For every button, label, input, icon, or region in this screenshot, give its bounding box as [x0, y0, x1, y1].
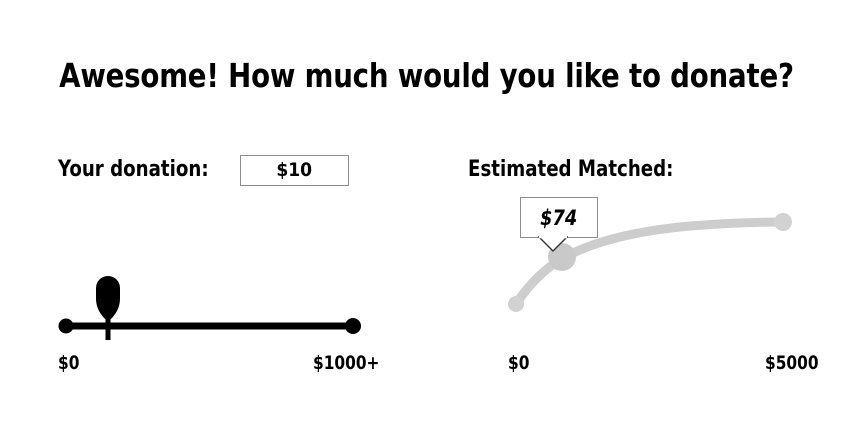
- page-title: Awesome! How much would you like to dona…: [30, 56, 823, 96]
- donation-slider[interactable]: [50, 260, 400, 350]
- donation-axis-max-label: $1000+: [313, 352, 379, 374]
- slider-min-endpoint: [59, 319, 74, 334]
- matched-axis-min-label: $0: [508, 352, 529, 374]
- matched-panel: Estimated Matched: $74 $0 $5000: [460, 140, 840, 390]
- donation-label: Your donation:: [58, 157, 209, 183]
- match-callout-tail-icon: [538, 236, 568, 252]
- donation-axis-labels: $0 $1000+: [50, 352, 400, 382]
- matched-axis-max-label: $5000: [765, 352, 819, 374]
- donation-widget-root: Awesome! How much would you like to dona…: [0, 0, 853, 440]
- slider-max-endpoint: [345, 318, 361, 334]
- matched-curve: [460, 185, 840, 350]
- matched-curve-graphic: [460, 185, 840, 350]
- match-callout-value: $74: [540, 206, 577, 230]
- matched-axis-labels: $0 $5000: [460, 352, 840, 382]
- donation-amount-input[interactable]: [240, 155, 349, 186]
- matched-label: Estimated Matched:: [468, 157, 673, 183]
- donation-field-row: Your donation:: [58, 152, 349, 188]
- slider-handle[interactable]: [96, 276, 120, 322]
- donation-slider-graphic[interactable]: [50, 260, 400, 350]
- matched-field-row: Estimated Matched:: [468, 152, 691, 188]
- curve-end-dot: [774, 213, 792, 231]
- curve-start-dot: [508, 296, 524, 312]
- donation-panel: Your donation: $0 $1000+: [50, 140, 400, 390]
- donation-axis-min-label: $0: [58, 352, 79, 374]
- match-callout: $74: [520, 197, 598, 238]
